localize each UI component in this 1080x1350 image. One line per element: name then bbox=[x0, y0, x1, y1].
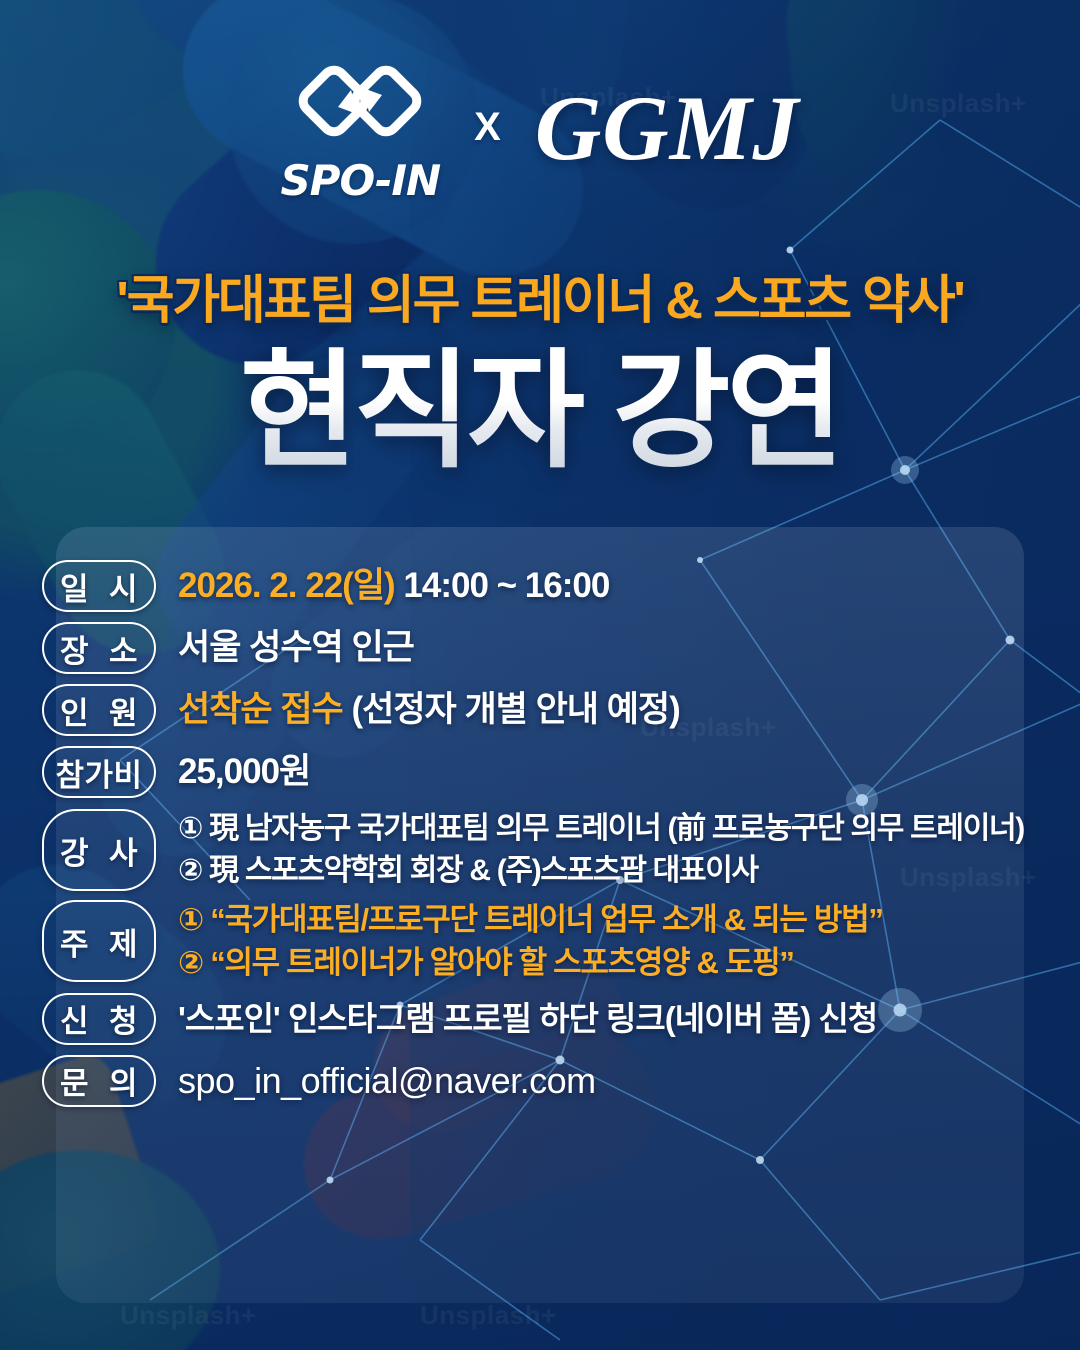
ggmj-wordmark: GGMJ bbox=[535, 75, 800, 181]
spoin-logo: SPO-IN bbox=[280, 62, 440, 205]
label-char: 사 bbox=[109, 828, 138, 873]
instructor-line-1: ① 現 남자농구 국가대표팀 의무 트레이너 (前 프로농구단 의무 트레이너) bbox=[178, 808, 1024, 850]
value-contact-email[interactable]: spo_in_official@naver.com bbox=[178, 1058, 596, 1104]
value-capacity-highlight: 선착순 접수 bbox=[178, 690, 343, 729]
label-char: 참가 bbox=[55, 750, 113, 795]
label-char: 원 bbox=[109, 688, 138, 733]
label-contact: 문의 bbox=[42, 1055, 156, 1107]
watermark: Unsplash+ bbox=[120, 1300, 257, 1331]
info-rows: 일시 2026. 2. 22(일) 14:00 ~ 16:00 장소 서울 성수… bbox=[42, 560, 1070, 1117]
label-char: 비 bbox=[114, 750, 143, 795]
label-location: 장소 bbox=[42, 622, 156, 674]
label-topics: 주제 bbox=[42, 900, 156, 982]
info-row-fee: 참가비 25,000원 bbox=[42, 746, 1070, 798]
label-capacity: 인원 bbox=[42, 684, 156, 736]
label-apply: 신청 bbox=[42, 993, 156, 1045]
instructor-line-2: ② 現 스포츠약학회 회장 & (주)스포츠팜 대표이사 bbox=[178, 850, 1024, 892]
value-location: 서울 성수역 인근 bbox=[178, 626, 414, 671]
label-fee: 참가비 bbox=[42, 746, 156, 798]
info-row-apply: 신청 '스포인' 인스타그램 프로필 하단 링크(네이버 폼) 신청 bbox=[42, 993, 1070, 1045]
label-char: 시 bbox=[109, 564, 138, 609]
brand-header: SPO-IN X GGMJ bbox=[0, 62, 1080, 205]
watermark: Unsplash+ bbox=[420, 1300, 557, 1331]
label-char: 의 bbox=[109, 1058, 138, 1103]
label-char: 일 bbox=[60, 564, 89, 609]
value-capacity: 선착순 접수 (선정자 개별 안내 예정) bbox=[178, 688, 680, 733]
info-row-date: 일시 2026. 2. 22(일) 14:00 ~ 16:00 bbox=[42, 560, 1070, 612]
label-char: 강 bbox=[60, 828, 89, 873]
topic-line-1: ① “국가대표팀/프로구단 트레이너 업무 소개 & 되는 방법” bbox=[178, 898, 883, 941]
value-instructors: ① 現 남자농구 국가대표팀 의무 트레이너 (前 프로농구단 의무 트레이너)… bbox=[178, 808, 1024, 892]
label-date: 일시 bbox=[42, 560, 156, 612]
spoin-wordmark: SPO-IN bbox=[280, 156, 440, 205]
collab-x-symbol: X bbox=[474, 105, 501, 150]
value-fee: 25,000원 bbox=[178, 750, 310, 795]
label-instructors: 강사 bbox=[42, 809, 156, 891]
label-char: 장 bbox=[60, 626, 89, 671]
info-row-capacity: 인원 선착순 접수 (선정자 개별 안내 예정) bbox=[42, 684, 1070, 736]
poster-root: Unsplash+ Unsplash+ Unsplash+ Unsplash+ … bbox=[0, 0, 1080, 1350]
value-capacity-note: (선정자 개별 안내 예정) bbox=[351, 690, 679, 729]
label-char: 소 bbox=[109, 626, 138, 671]
value-date: 2026. 2. 22(일) 14:00 ~ 16:00 bbox=[178, 564, 609, 609]
info-row-topics: 주제 ① “국가대표팀/프로구단 트레이너 업무 소개 & 되는 방법” ② “… bbox=[42, 898, 1070, 985]
info-row-location: 장소 서울 성수역 인근 bbox=[42, 622, 1070, 674]
poster-subtitle: '국가대표팀 의무 트레이너 & 스포츠 약사' bbox=[0, 258, 1080, 333]
label-char: 제 bbox=[109, 919, 138, 964]
value-date-time: 14:00 ~ 16:00 bbox=[403, 566, 609, 605]
topic-line-2: ② “의무 트레이너가 알아야 할 스포츠영양 & 도핑” bbox=[178, 941, 883, 984]
value-apply[interactable]: '스포인' 인스타그램 프로필 하단 링크(네이버 폼) 신청 bbox=[178, 998, 877, 1040]
poster-headline: 현직자 강연 bbox=[0, 338, 1080, 485]
label-char: 문 bbox=[60, 1058, 89, 1103]
spoin-link-icon bbox=[296, 62, 424, 154]
value-topics: ① “국가대표팀/프로구단 트레이너 업무 소개 & 되는 방법” ② “의무 … bbox=[178, 898, 883, 985]
label-char: 청 bbox=[109, 996, 138, 1041]
label-char: 주 bbox=[60, 919, 89, 964]
label-char: 신 bbox=[60, 996, 89, 1041]
info-row-instructors: 강사 ① 現 남자농구 국가대표팀 의무 트레이너 (前 프로농구단 의무 트레… bbox=[42, 808, 1070, 892]
value-date-highlight: 2026. 2. 22(일) bbox=[178, 566, 395, 605]
label-char: 인 bbox=[60, 688, 89, 733]
info-row-contact: 문의 spo_in_official@naver.com bbox=[42, 1055, 1070, 1107]
